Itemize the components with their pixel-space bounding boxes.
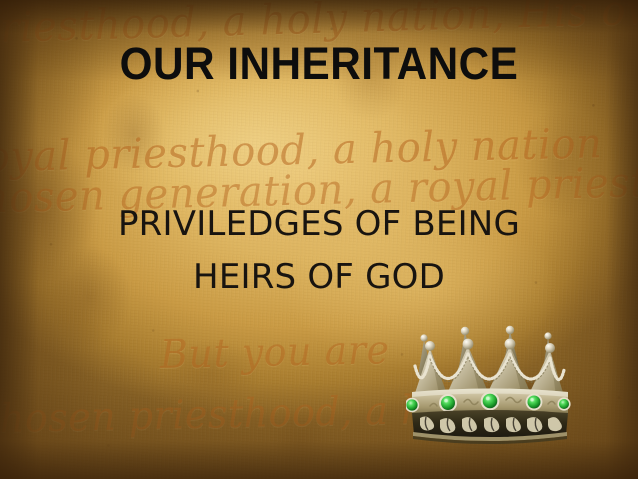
slide-subtitle: PRIVILEDGES OF BEING HEIRS OF GOD — [0, 198, 638, 304]
presentation-slide: priesthood, a holy nation, His own royal… — [0, 0, 638, 479]
crown-image — [406, 322, 574, 444]
subtitle-line-2: HEIRS OF GOD — [0, 251, 638, 304]
subtitle-line-1: PRIVILEDGES OF BEING — [0, 198, 638, 251]
crown-finials — [425, 339, 555, 353]
slide-title: OUR INHERITANCE — [19, 38, 619, 90]
